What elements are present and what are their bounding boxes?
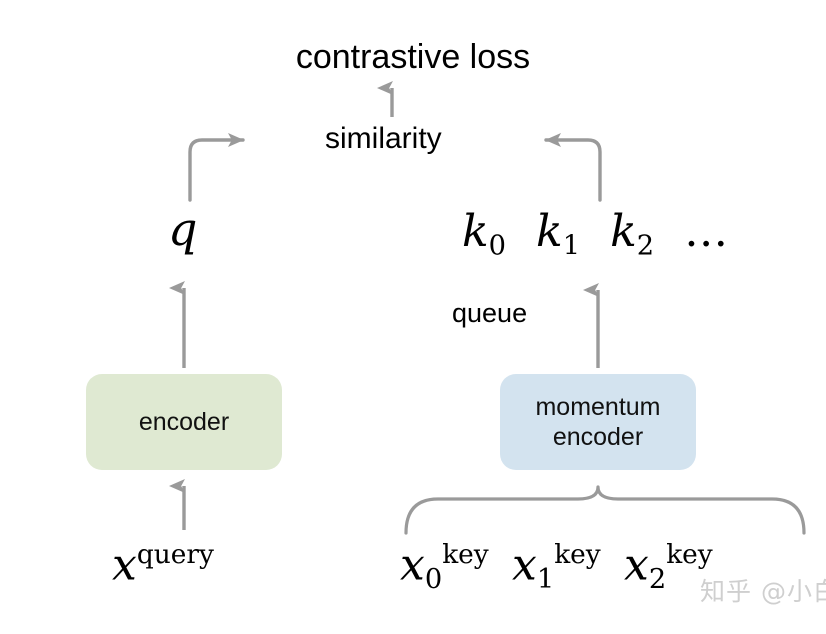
key-2-base: k [610,206,637,257]
momentum-encoder-line-2: encoder [553,423,643,451]
x-key-1-superscript: key [554,539,601,570]
x-query-base: x [112,539,137,590]
x-query-symbol: xquery [112,542,214,587]
x-key-2-superscript: key [666,539,713,570]
queue-label: queue [452,300,527,327]
query-vector-symbol: q [168,206,197,252]
key-vectors-ellipsis: … [684,206,731,257]
x-key-0-base: x [400,539,425,590]
momentum-encoder-box-label: momentum encoder [535,392,660,453]
zhihu-watermark: 知乎 @小白 [700,572,826,608]
similarity-label: similarity [325,124,442,154]
contrastive-loss-label: contrastive loss [0,40,826,74]
moco-architecture-diagram: contrastive loss similarity queue q k0 k… [0,0,826,634]
x-key-2-subscript: 2 [649,564,666,595]
key-vectors-group: k0 k1 k2 … [462,210,731,260]
encoder-box[interactable]: encoder [86,374,282,470]
arrow-keys-to-similarity [546,140,600,200]
key-0-subscript: 0 [489,231,506,262]
key-vector-0: k0 [462,206,506,257]
x-key-1-base: x [512,539,537,590]
key-vector-2: k2 [610,206,654,257]
key-vector-1: k1 [536,206,580,257]
x-key-2-base: x [624,539,649,590]
momentum-encoder-box[interactable]: momentum encoder [500,374,696,470]
key-2-subscript: 2 [637,231,654,262]
x-key-0-subscript: 0 [425,564,442,595]
arrow-q-to-similarity [190,140,243,200]
brace-key-samples [406,487,804,533]
key-0-base: k [462,206,489,257]
x-key-0-symbol: x0key [400,542,489,593]
x-key-1-subscript: 1 [537,564,554,595]
x-key-1-symbol: x1key [512,542,601,593]
momentum-encoder-line-1: momentum [535,393,660,421]
x-query-superscript: query [137,539,214,570]
key-1-base: k [536,206,563,257]
key-1-subscript: 1 [563,231,580,262]
x-key-0-superscript: key [442,539,489,570]
query-vector-base: q [168,202,197,256]
encoder-box-label: encoder [139,407,229,438]
